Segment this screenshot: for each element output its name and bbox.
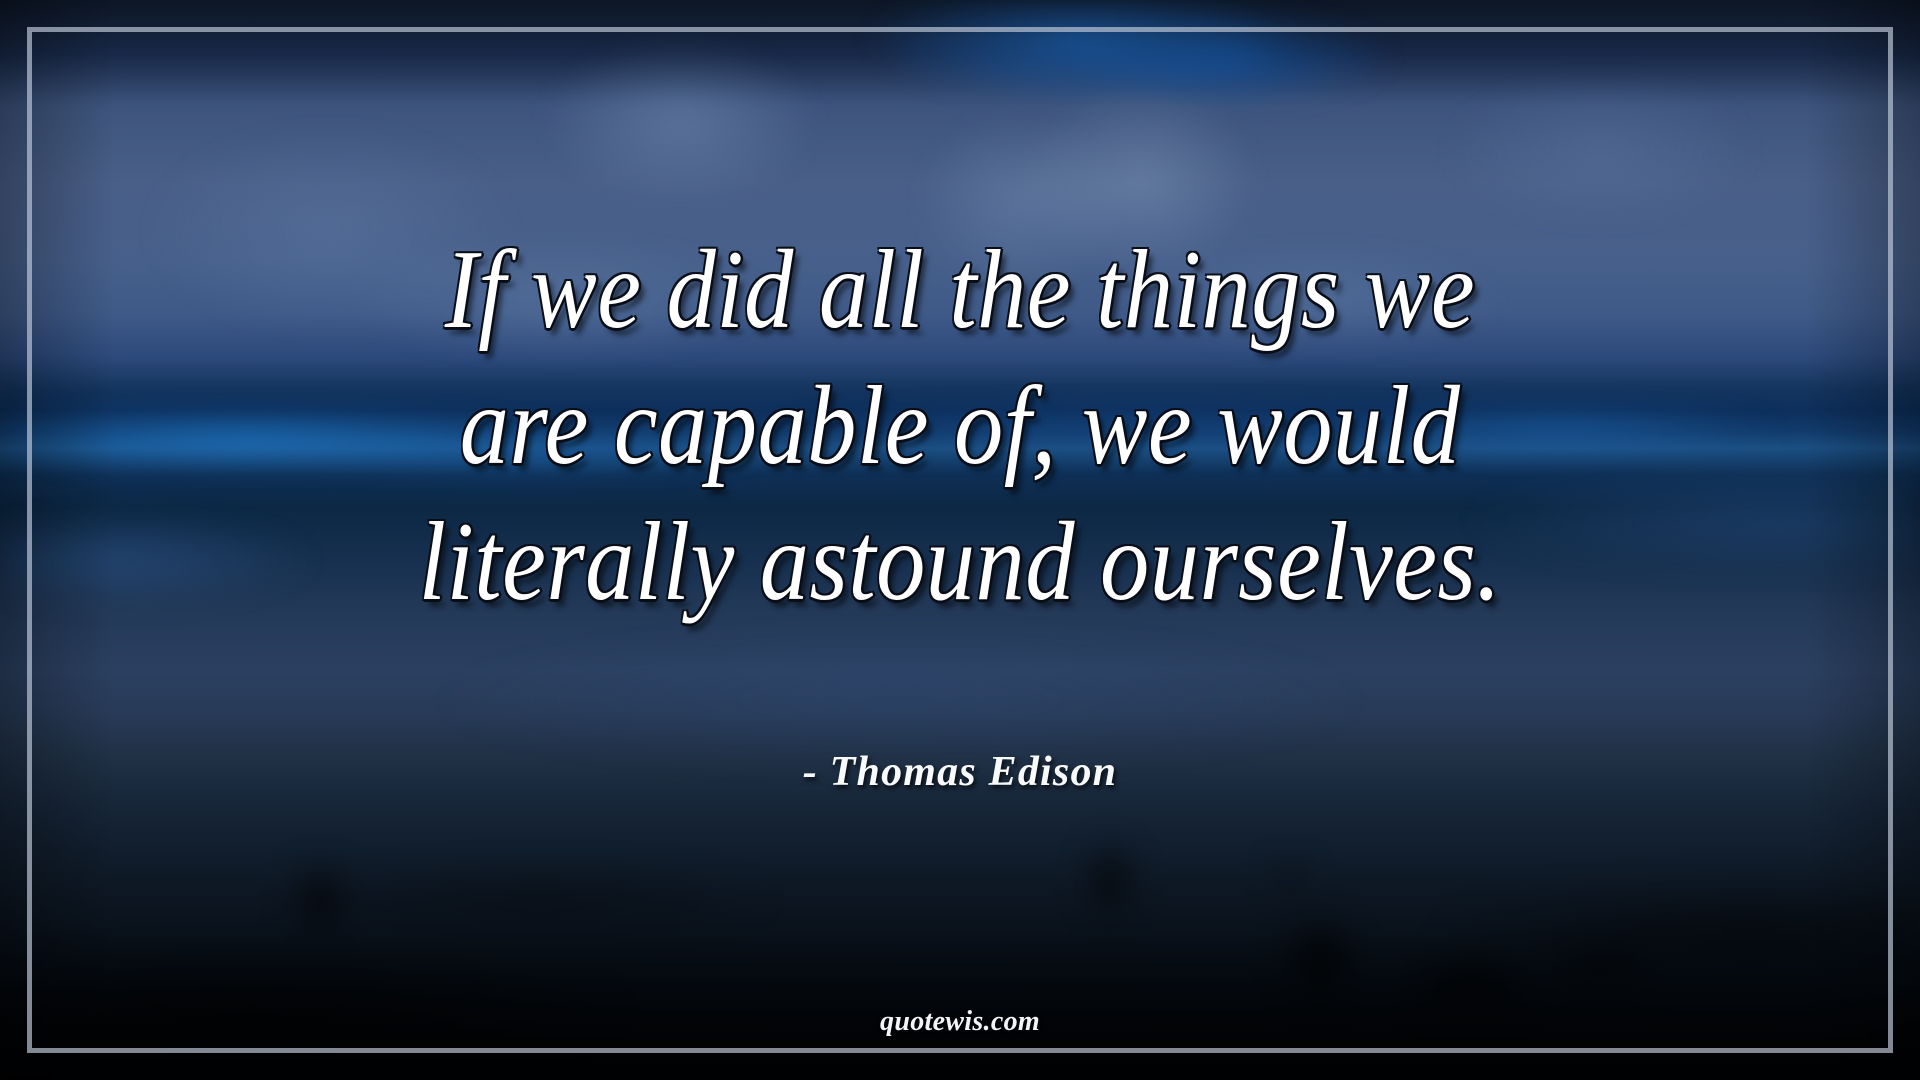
card-content: If we did all the things we are capable … <box>0 0 1920 1080</box>
quote-attribution: - Thomas Edison <box>0 748 1920 796</box>
quote-block: If we did all the things we are capable … <box>0 222 1920 630</box>
site-watermark: quotewis.com <box>0 1006 1920 1038</box>
quote-text: If we did all the things we are capable … <box>247 222 1673 630</box>
quote-card: If we did all the things we are capable … <box>0 0 1920 1080</box>
